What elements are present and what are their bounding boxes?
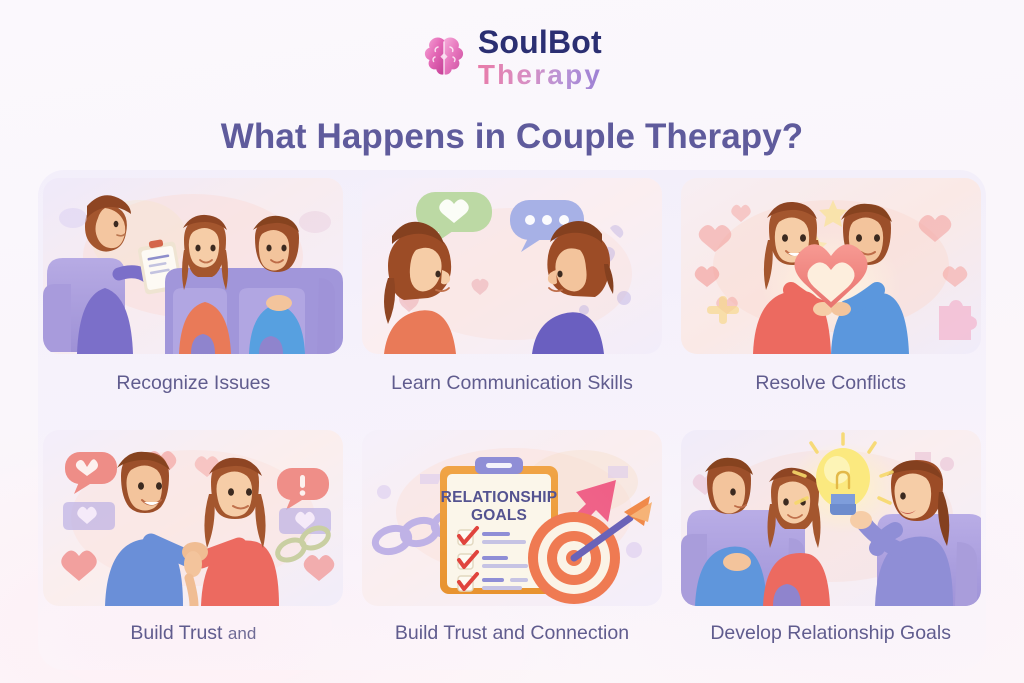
- brain-icon: [422, 35, 466, 81]
- card-recognize-issues[interactable]: Recognize Issues: [38, 178, 349, 426]
- illustration-couple-holding-hands: [43, 430, 343, 606]
- caption-segment-main: Build Trust: [130, 622, 228, 644]
- brand-logo: SoulBot Therapy: [0, 26, 1024, 89]
- clipboard-title-line2: GOALS: [471, 507, 527, 524]
- card-caption: Build Trust and: [54, 620, 332, 648]
- card-grid: Recognize Issues: [38, 178, 986, 678]
- caption-segment-and: and: [228, 624, 256, 643]
- illustration-glowing-heart: [681, 178, 981, 354]
- card-caption: Build Trust and Connection: [373, 620, 651, 648]
- illustration-therapist-with-lightbulb: [681, 430, 981, 606]
- illustration-speech-bubbles: [362, 178, 662, 354]
- illustration-relationship-goals-clipboard: RELATIONSHIP GOALS: [362, 430, 662, 606]
- card-caption: Recognize Issues: [54, 370, 332, 398]
- brand-name: SoulBot: [478, 26, 602, 58]
- card-build-trust[interactable]: Build Trust and: [38, 430, 349, 678]
- card-caption: Learn Communication Skills: [373, 370, 651, 398]
- card-caption: Develop Relationship Goals: [692, 620, 970, 648]
- card-build-trust-and-connection[interactable]: RELATIONSHIP GOALS: [357, 430, 668, 678]
- page-title: What Happens in Couple Therapy?: [0, 117, 1024, 157]
- card-develop-relationship-goals[interactable]: Develop Relationship Goals: [675, 430, 986, 678]
- card-resolve-conflicts[interactable]: Resolve Conflicts: [675, 178, 986, 426]
- card-learn-communication-skills[interactable]: Learn Communication Skills: [357, 178, 668, 426]
- illustration-therapist-with-clipboard: [43, 178, 343, 354]
- clipboard-title-line1: RELATIONSHIP: [441, 489, 558, 506]
- brand-wordmark: SoulBot Therapy: [478, 26, 602, 89]
- infographic-page: SoulBot Therapy What Happens in Couple T…: [0, 0, 1024, 683]
- brand-subtitle: Therapy: [478, 61, 602, 89]
- card-caption: Resolve Conflicts: [692, 370, 970, 398]
